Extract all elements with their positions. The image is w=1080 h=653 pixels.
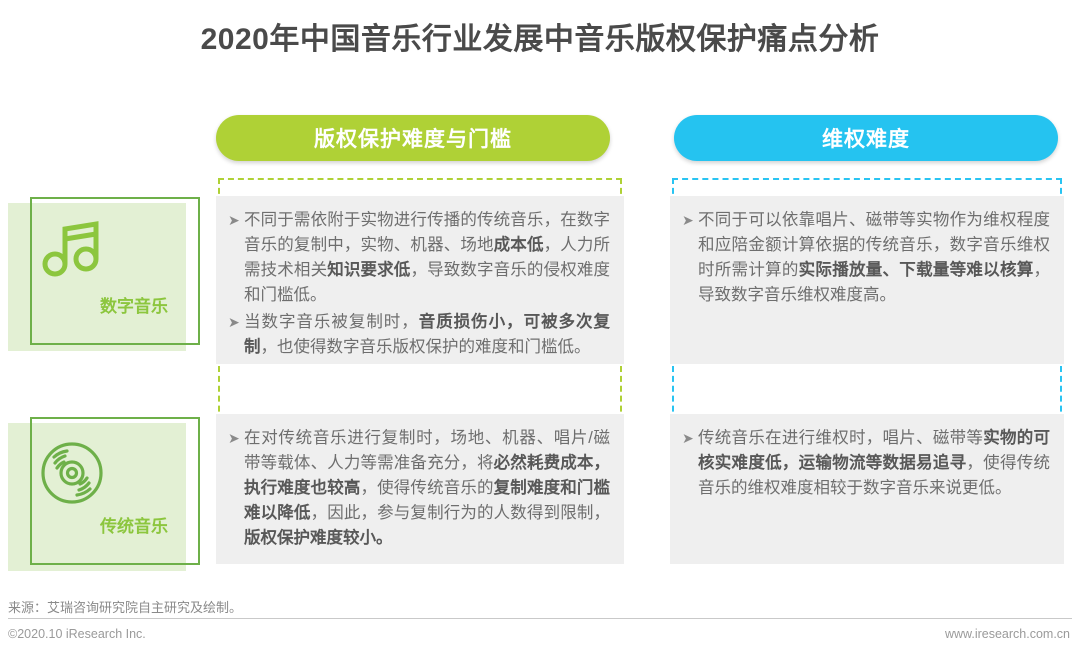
category-card-digital-music: 数字音乐 xyxy=(8,203,186,351)
footer-divider xyxy=(8,618,1072,619)
infographic-page: 2020年中国音乐行业发展中音乐版权保护痛点分析 版权保护难度与门槛 维权难度 … xyxy=(0,0,1080,653)
bullet-arrow-icon: ➤ xyxy=(226,310,244,335)
bullet-arrow-icon: ➤ xyxy=(680,426,698,451)
cell-digital-enforcement: ➤不同于可以依靠唱片、磁带等实物作为维权程度和应陪金额计算依据的传统音乐，数字音… xyxy=(670,196,1064,364)
bullet-text: 当数字音乐被复制时，音质损伤小，可被多次复制，也使得数字音乐版权保护的难度和门槛… xyxy=(244,310,610,360)
category-label-traditional-music: 传统音乐 xyxy=(100,512,168,537)
cell-digital-protection: ➤不同于需依附于实物进行传播的传统音乐，在数字音乐的复制中，实物、机器、场地成本… xyxy=(216,196,624,364)
category-card-traditional-music: 传统音乐 xyxy=(8,423,186,571)
bullet-item: ➤当数字音乐被复制时，音质损伤小，可被多次复制，也使得数字音乐版权保护的难度和门… xyxy=(226,310,610,360)
copyright-text: ©2020.10 iResearch Inc. xyxy=(8,627,146,641)
cell-traditional-enforcement: ➤传统音乐在进行维权时，唱片、磁带等实物的可核实难度低，运输物流等数据易追寻，使… xyxy=(670,414,1064,564)
bullet-item: ➤在对传统音乐进行复制时，场地、机器、唱片/磁带等载体、人力等需准备充分，将必然… xyxy=(226,426,610,551)
bullet-item: ➤不同于可以依靠唱片、磁带等实物作为维权程度和应陪金额计算依据的传统音乐，数字音… xyxy=(680,208,1050,308)
cell-traditional-protection: ➤在对传统音乐进行复制时，场地、机器、唱片/磁带等载体、人力等需准备充分，将必然… xyxy=(216,414,624,564)
page-title: 2020年中国音乐行业发展中音乐版权保护痛点分析 xyxy=(0,14,1080,58)
bullet-text: 不同于需依附于实物进行传播的传统音乐，在数字音乐的复制中，实物、机器、场地成本低… xyxy=(244,208,610,308)
bullet-arrow-icon: ➤ xyxy=(226,426,244,451)
bullet-item: ➤不同于需依附于实物进行传播的传统音乐，在数字音乐的复制中，实物、机器、场地成本… xyxy=(226,208,610,308)
bullet-text: 传统音乐在进行维权时，唱片、磁带等实物的可核实难度低，运输物流等数据易追寻，使得… xyxy=(698,426,1050,501)
vinyl-record-icon xyxy=(34,435,110,516)
bullet-arrow-icon: ➤ xyxy=(680,208,698,233)
column-header-rights-enforcement: 维权难度 xyxy=(674,115,1058,161)
category-label-digital-music: 数字音乐 xyxy=(100,292,168,317)
bullet-arrow-icon: ➤ xyxy=(226,208,244,233)
bullet-text: 在对传统音乐进行复制时，场地、机器、唱片/磁带等载体、人力等需准备充分，将必然耗… xyxy=(244,426,610,551)
source-note: 来源：艾瑞咨询研究院自主研究及绘制。 xyxy=(8,597,242,616)
bullet-text: 不同于可以依靠唱片、磁带等实物作为维权程度和应陪金额计算依据的传统音乐，数字音乐… xyxy=(698,208,1050,308)
music-note-icon xyxy=(34,215,110,296)
column-header-copyright-protection: 版权保护难度与门槛 xyxy=(216,115,610,161)
website-link[interactable]: www.iresearch.com.cn xyxy=(945,627,1070,641)
bullet-item: ➤传统音乐在进行维权时，唱片、磁带等实物的可核实难度低，运输物流等数据易追寻，使… xyxy=(680,426,1050,501)
